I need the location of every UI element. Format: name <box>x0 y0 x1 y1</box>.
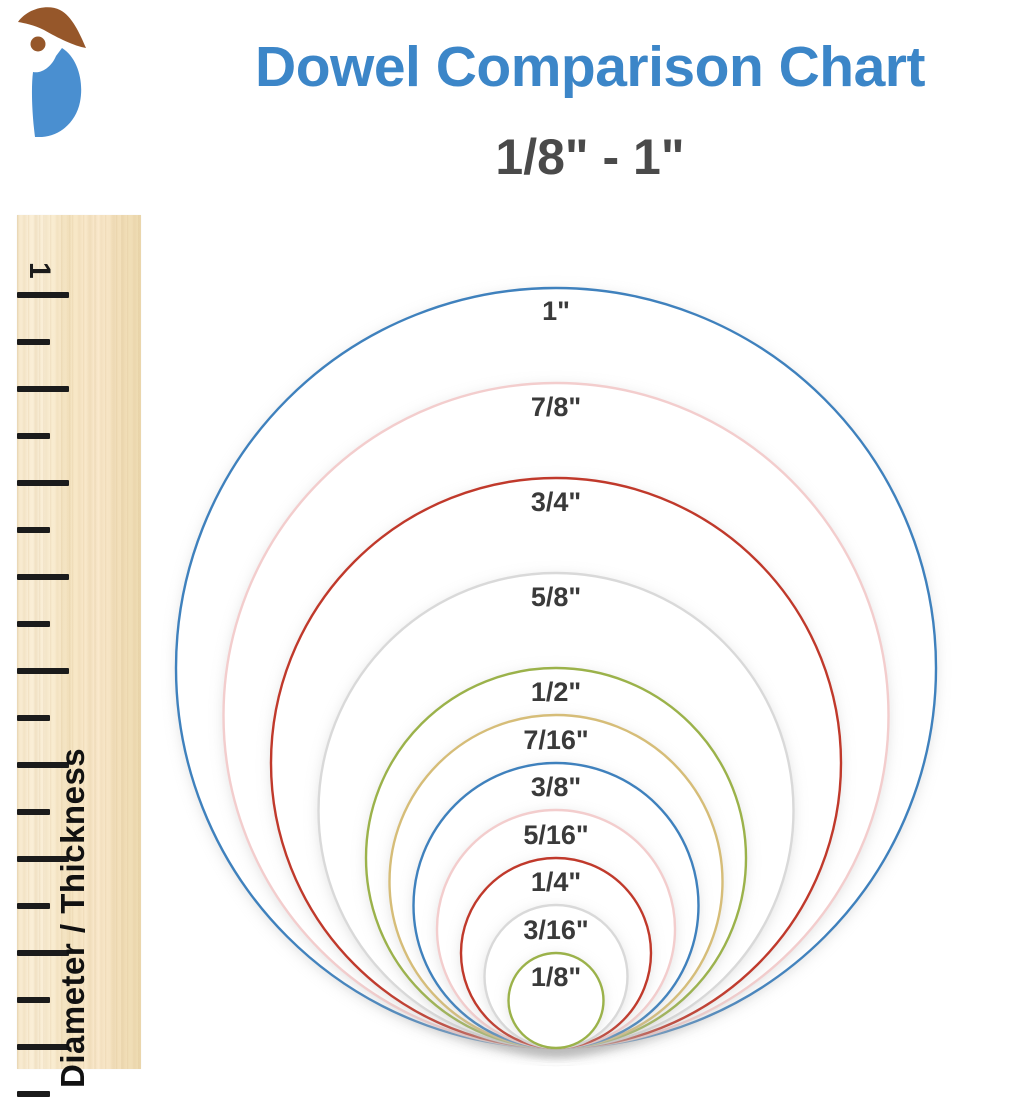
dowel-size-label: 7/16" <box>523 725 588 756</box>
dowel-size-label: 1" <box>542 296 570 327</box>
ruler-tick <box>17 1091 50 1097</box>
dowel-size-label: 5/16" <box>523 820 588 851</box>
dowel-circle-chart <box>0 0 1027 1069</box>
dowel-size-label: 1/2" <box>531 677 581 708</box>
dowel-size-label: 3/16" <box>523 915 588 946</box>
dowel-size-label: 3/4" <box>531 487 581 518</box>
dowel-size-label: 1/4" <box>531 867 581 898</box>
dowel-size-label: 7/8" <box>531 392 581 423</box>
dowel-size-label: 5/8" <box>531 582 581 613</box>
dowel-size-label: 3/8" <box>531 772 581 803</box>
dowel-size-label: 1/8" <box>531 962 581 993</box>
